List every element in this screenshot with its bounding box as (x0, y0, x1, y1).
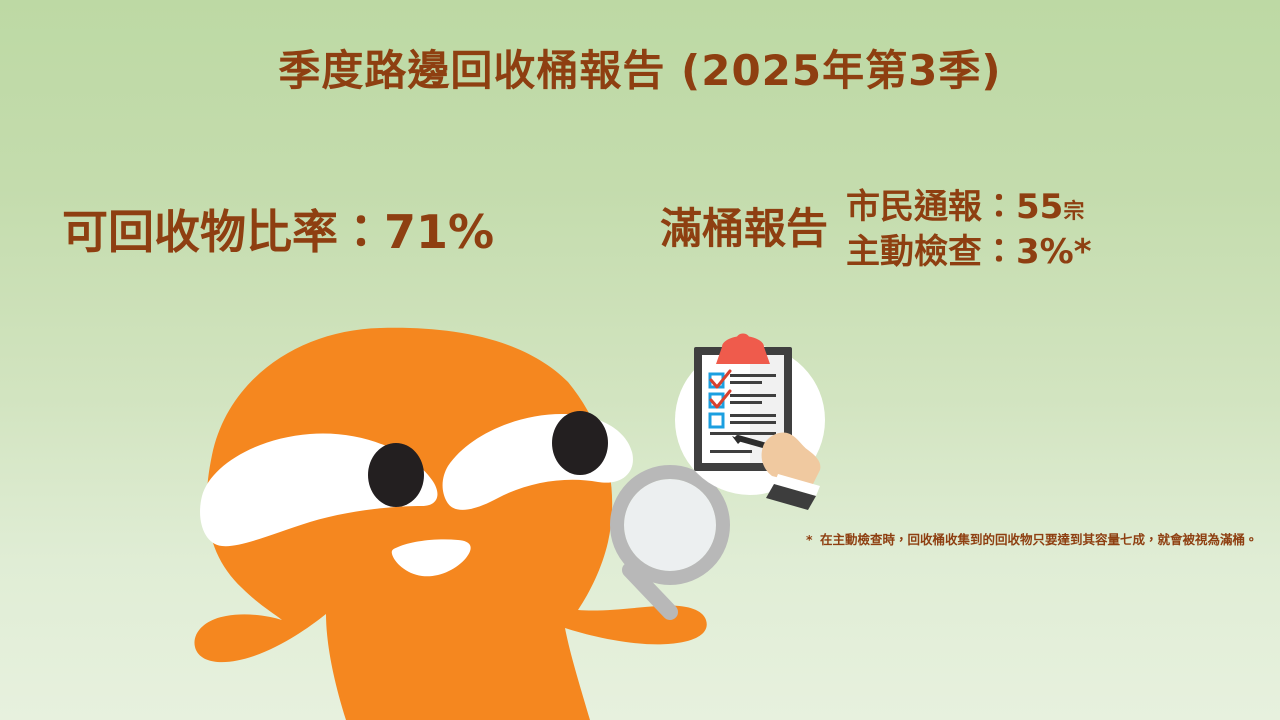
slide-canvas: 季度路邊回收桶報告 (2025年第3季) 可回收物比率：71% 滿桶報告 市民通… (0, 0, 1280, 720)
proactive-inspection-value: 3%* (1016, 232, 1092, 272)
citizen-report-unit: 宗 (1063, 199, 1084, 223)
full-bin-label: 滿桶報告 (660, 206, 828, 252)
clipboard-text-line-4 (710, 432, 776, 435)
citizen-report-label: 市民通報： (846, 187, 1016, 227)
citizen-report-value: 55 (1016, 187, 1063, 227)
full-bin-line-proactive-inspection: 主動檢查：3%* (846, 231, 1092, 274)
clipboard-text-line-2b (730, 401, 762, 404)
clipboard-text-line-2a (730, 394, 776, 397)
stat-full-bin-reports: 滿桶報告 市民通報：55宗 主動檢查：3%* (660, 186, 1092, 273)
footnote-marker: * (806, 531, 813, 550)
footnote: * 在主動檢查時，回收桶收集到的回收物只要達到其容量七成，就會被視為滿桶。 (806, 531, 1258, 550)
clipboard-clip (716, 336, 770, 364)
full-bin-values: 市民通報：55宗 主動檢查：3%* (846, 186, 1092, 273)
stat-recyclable-rate: 可回收物比率：71% (62, 207, 494, 258)
clipboard-text-line-1b (730, 381, 762, 384)
page-title: 季度路邊回收桶報告 (2025年第3季) (0, 48, 1280, 94)
clipboard-text-line-3a (730, 414, 776, 417)
footnote-text: 在主動檢查時，回收桶收集到的回收物只要達到其容量七成，就會被視為滿桶。 (806, 531, 1258, 550)
clipboard-text-line-5 (710, 450, 752, 453)
proactive-inspection-label: 主動檢查： (846, 232, 1016, 272)
mascot-right-pupil (552, 411, 608, 475)
clipboard-checkbox-3 (710, 414, 723, 427)
mascot-left-pupil (368, 443, 424, 507)
clipboard-text-line-1a (730, 374, 776, 377)
full-bin-line-citizen-report: 市民通報：55宗 (846, 186, 1092, 229)
clipboard-checklist-icon (660, 330, 840, 510)
clipboard-text-line-3b (730, 421, 776, 424)
